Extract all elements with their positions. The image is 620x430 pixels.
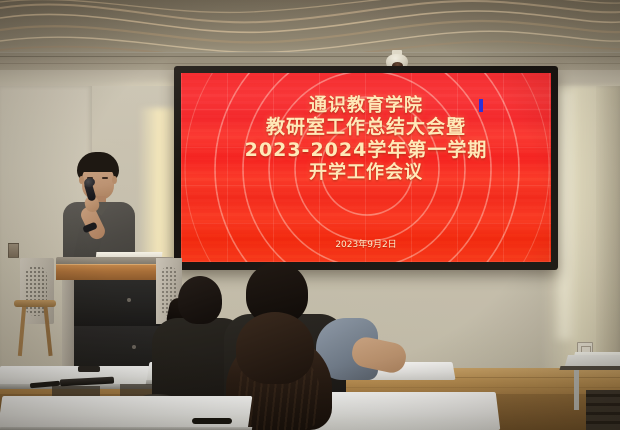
display-screen: 通识教育学院 教研室工作总结大会暨 2023-2024学年第一学期 开学工作会议… bbox=[174, 66, 558, 270]
presenter-ear-right bbox=[112, 176, 117, 184]
lectern-screw-lower bbox=[132, 345, 136, 349]
slide-line-3: 2023-2024学年第一学期 bbox=[181, 139, 551, 161]
slide-date: 2023年9月2日 bbox=[181, 237, 551, 250]
wall-plate bbox=[8, 243, 19, 258]
right-pillar bbox=[596, 86, 620, 386]
slide-line-2: 教研室工作总结大会暨 bbox=[181, 116, 551, 138]
lectern-side bbox=[62, 280, 74, 370]
desk-front-left bbox=[0, 396, 252, 430]
slide-text-block: 通识教育学院 教研室工作总结大会暨 2023-2024学年第一学期 开学工作会议 bbox=[181, 95, 551, 183]
desk-object-cable bbox=[192, 418, 232, 424]
screen-panel: 通识教育学院 教研室工作总结大会暨 2023-2024学年第一学期 开学工作会议… bbox=[181, 73, 551, 262]
presenter-eye-right bbox=[102, 177, 108, 179]
presenter-fringe bbox=[78, 158, 118, 172]
side-desk-leg bbox=[574, 370, 579, 410]
photo-scene: 通识教育学院 教研室工作总结大会暨 2023-2024学年第一学期 开学工作会议… bbox=[0, 0, 620, 430]
slide-line-1: 通识教育学院 bbox=[181, 95, 551, 116]
attendee-front-head bbox=[236, 312, 314, 384]
desk-object-small bbox=[78, 366, 100, 372]
lectern-screw-upper bbox=[127, 298, 131, 302]
attendee-left-head bbox=[178, 276, 222, 324]
slide-line-4: 开学工作会议 bbox=[181, 162, 551, 183]
stacked-crate bbox=[586, 390, 620, 430]
side-desk-edge bbox=[559, 366, 620, 370]
wooden-stool bbox=[14, 300, 56, 307]
blue-cursor-marker bbox=[479, 99, 483, 112]
